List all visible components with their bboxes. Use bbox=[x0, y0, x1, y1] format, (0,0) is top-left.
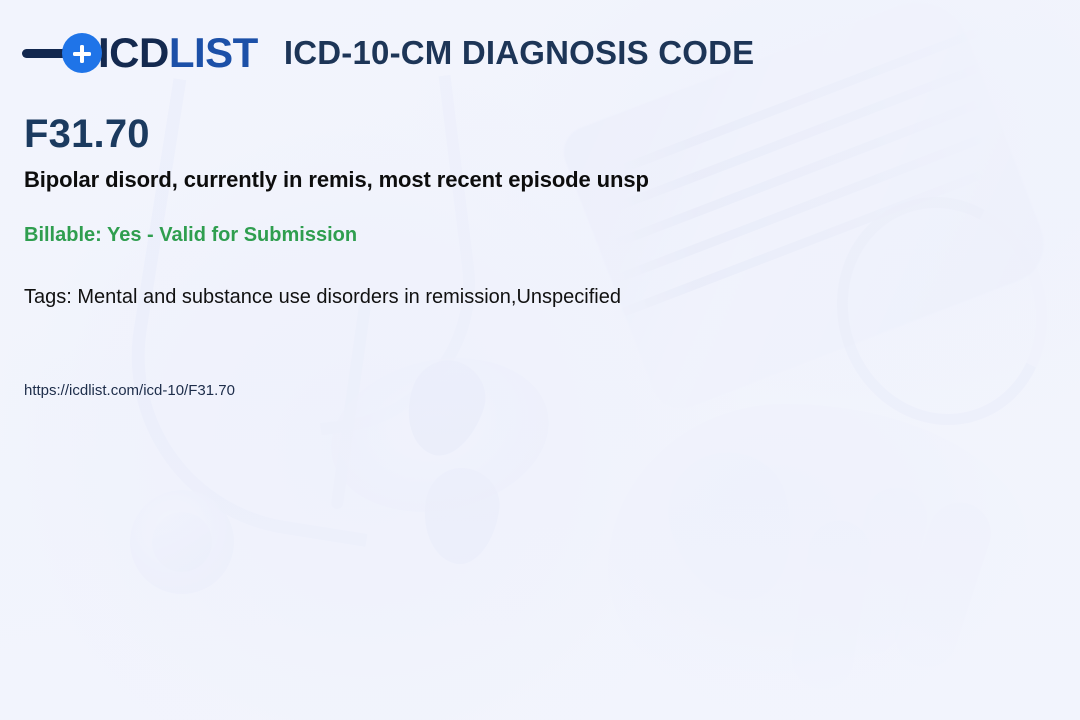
mask-ear-loop bbox=[808, 169, 1077, 452]
stethoscope-stem bbox=[330, 300, 371, 510]
stethoscope-eartip bbox=[418, 463, 505, 568]
finger-shape bbox=[787, 516, 875, 694]
stethoscope-tube-right bbox=[280, 75, 492, 435]
mask-pleat bbox=[612, 61, 989, 213]
stethoscope-eartip bbox=[395, 351, 495, 465]
diagnosis-description: Bipolar disord, currently in remis, most… bbox=[24, 167, 649, 193]
background-photo bbox=[0, 0, 1080, 720]
stethoscope-diaphragm bbox=[317, 339, 563, 531]
stethoscope-bell-inner bbox=[152, 512, 212, 572]
mask-pleat bbox=[612, 133, 989, 285]
diagnosis-code: F31.70 bbox=[24, 112, 150, 156]
stethoscope-eartip bbox=[656, 440, 809, 615]
finger-shape bbox=[887, 495, 998, 676]
stethoscope-bell bbox=[130, 490, 234, 594]
finger-shape bbox=[832, 481, 933, 661]
icd-code-card: ICDLIST ICD-10-CM DIAGNOSIS CODE F31.70 … bbox=[0, 0, 1080, 720]
logo-word-list: LIST bbox=[169, 29, 258, 76]
icdlist-logo[interactable]: ICDLIST bbox=[22, 26, 258, 80]
tags-line: Tags: Mental and substance use disorders… bbox=[24, 286, 621, 309]
background-wash bbox=[0, 0, 1080, 720]
billable-status: Billable: Yes - Valid for Submission bbox=[24, 224, 357, 247]
mask-pleat bbox=[612, 97, 989, 249]
stethoscope-tube-left bbox=[106, 78, 433, 547]
header: ICDLIST ICD-10-CM DIAGNOSIS CODE bbox=[22, 26, 754, 80]
source-url[interactable]: https://icdlist.com/icd-10/F31.70 bbox=[24, 382, 235, 399]
background-veil bbox=[0, 0, 1080, 720]
logo-wordmark: ICDLIST bbox=[98, 32, 258, 74]
page-title: ICD-10-CM DIAGNOSIS CODE bbox=[284, 34, 755, 72]
logo-word-icd: ICD bbox=[98, 29, 169, 76]
plus-circle-icon bbox=[62, 33, 102, 73]
hand-silhouette bbox=[608, 404, 1028, 720]
mask-pleat bbox=[612, 169, 989, 321]
